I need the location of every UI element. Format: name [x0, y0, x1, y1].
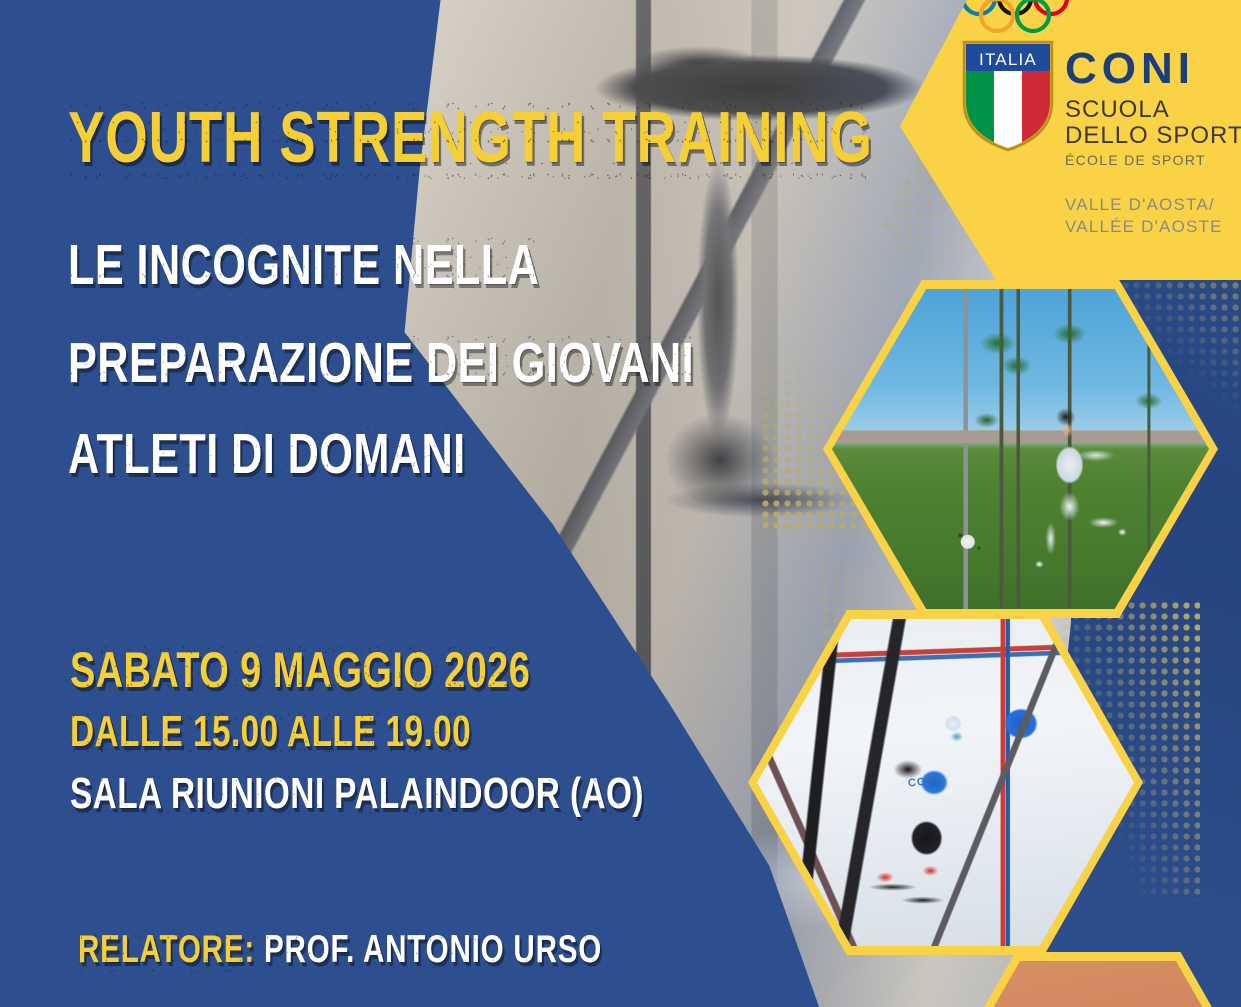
- italia-shield-icon: ITALIA: [962, 40, 1054, 152]
- alpine-skier-photo: CONI: [748, 610, 1143, 955]
- event-venue: SALA RIUNIONI PALAINDOOR (AO): [70, 769, 644, 819]
- poster-title: YOUTH STRENGTH TRAINING: [68, 97, 873, 179]
- clay-court-photo: [933, 952, 1241, 1007]
- poster-title-text: YOUTH STRENGTH TRAINING: [68, 97, 873, 179]
- shield-label: ITALIA: [979, 50, 1037, 69]
- coni-school-french: ÉCOLE DE SPORT: [1065, 152, 1241, 168]
- coni-wordmark-block: CONI SCUOLA DELLO SPORT ÉCOLE DE SPORT V…: [1065, 48, 1241, 238]
- subtitle-text-2: PREPARAZIONE DEI GIOVANI: [68, 330, 694, 396]
- poster-subtitle-line-1: LE INCOGNITE NELLA: [68, 232, 539, 298]
- event-date-text: SABATO 9 MAGGIO 2026: [70, 641, 530, 699]
- subtitle-text-3: ATLETI DI DOMANI: [68, 421, 466, 487]
- subtitle-text-1: LE INCOGNITE NELLA: [68, 232, 539, 298]
- coni-region-line-2: VALLÉE D'AOSTE: [1065, 216, 1241, 238]
- poster-subtitle-line-2: PREPARAZIONE DEI GIOVANI: [68, 330, 694, 396]
- event-time: DALLE 15.00 ALLE 19.00: [70, 707, 471, 757]
- coni-region-line-1: VALLE D'AOSTA/: [1065, 194, 1241, 216]
- speaker-label: RELATORE:: [78, 928, 255, 972]
- poster-subtitle-line-3: ATLETI DI DOMANI: [68, 421, 466, 487]
- coni-school-line-2: DELLO SPORT: [1065, 123, 1241, 149]
- event-date: SABATO 9 MAGGIO 2026: [70, 641, 530, 699]
- coni-acronym: CONI: [1065, 48, 1241, 90]
- speaker-name: PROF. ANTONIO URSO: [264, 928, 602, 972]
- event-venue-text: SALA RIUNIONI PALAINDOOR (AO): [70, 769, 644, 819]
- speaker-line: RELATORE: PROF. ANTONIO URSO: [78, 928, 602, 972]
- coni-school-line-1: SCUOLA: [1065, 97, 1241, 123]
- event-time-text: DALLE 15.00 ALLE 19.00: [70, 707, 471, 757]
- olympic-rings-icon: [960, 0, 1080, 36]
- event-poster: CONI: [0, 0, 1241, 1007]
- soccer-player-photo: [823, 280, 1218, 618]
